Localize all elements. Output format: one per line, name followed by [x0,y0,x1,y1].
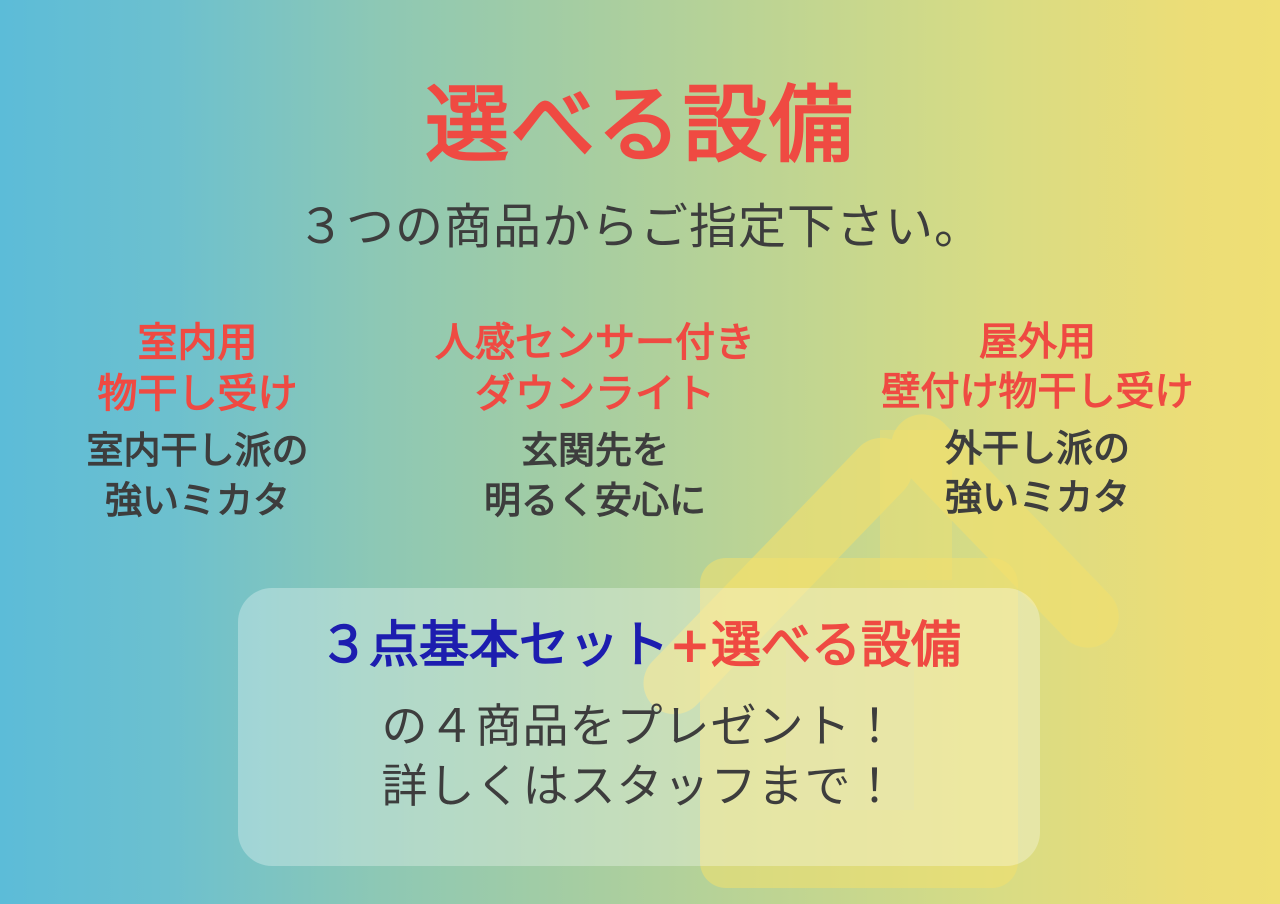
promo-headline: ３点基本セット+選べる設備 [0,620,1280,670]
option-description: 室内干し派の 強いミカタ [0,426,395,524]
option-desc-line2: 強いミカタ [795,473,1280,522]
option-item-motion-sensor-downlight[interactable]: 人感センサー付き ダウンライト 玄関先を 明るく安心に [395,318,795,525]
promo-detail-line-1: の４商品をプレゼント！ [0,703,1280,749]
option-item-indoor-hanger[interactable]: 室内用 物干し受け 室内干し派の 強いミカタ [0,318,395,525]
poster-subtitle: ３つの商品からご指定下さい。 [0,203,1280,251]
page-title: 選べる設備 [0,83,1280,167]
option-desc-line1: 玄関先を [395,426,795,475]
option-name-line2: 壁付け物干し受け [795,368,1280,418]
option-description: 玄関先を 明るく安心に [395,426,795,524]
option-name-line2: ダウンライト [395,369,795,420]
option-list: 室内用 物干し受け 室内干し派の 強いミカタ 人感センサー付き ダウンライト 玄… [0,318,1280,525]
promo-detail-line-2: 詳しくはスタッフまで！ [0,763,1280,809]
option-name: 屋外用 壁付け物干し受け [795,318,1280,418]
option-desc-line2: 明るく安心に [395,476,795,525]
promo-poster: 選べる設備 ３つの商品からご指定下さい。 室内用 物干し受け 室内干し派の 強い… [0,0,1280,904]
option-item-outdoor-wall-hanger[interactable]: 屋外用 壁付け物干し受け 外干し派の 強いミカタ [795,318,1280,525]
poster-content: 選べる設備 ３つの商品からご指定下さい。 室内用 物干し受け 室内干し派の 強い… [0,0,1280,904]
option-name: 室内用 物干し受け [0,318,395,420]
option-name-line1: 屋外用 [795,318,1280,368]
option-desc-line1: 室内干し派の [0,426,395,475]
option-desc-line1: 外干し派の [795,424,1280,473]
option-name: 人感センサー付き ダウンライト [395,318,795,420]
option-name-line1: 室内用 [0,318,395,369]
promo-headline-optional-equipment: 選べる設備 [711,616,961,674]
promo-headline-base-set: ３点基本セット [319,616,669,674]
option-name-line1: 人感センサー付き [395,318,795,369]
option-description: 外干し派の 強いミカタ [795,424,1280,522]
option-name-line2: 物干し受け [0,369,395,420]
promo-headline-plus: + [669,616,711,674]
option-desc-line2: 強いミカタ [0,476,395,525]
